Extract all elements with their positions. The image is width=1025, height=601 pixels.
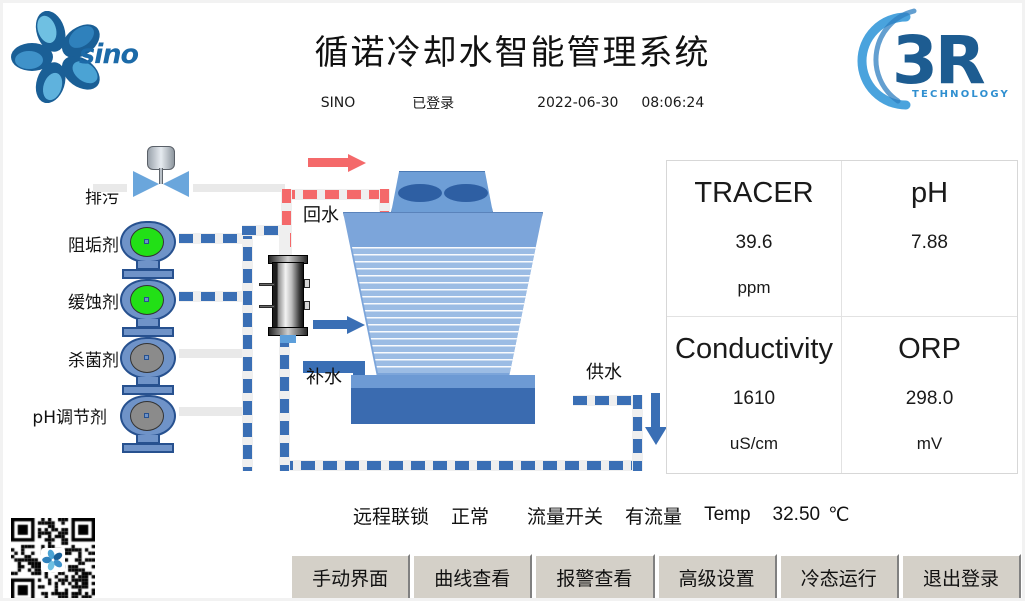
readout-ph: pH 7.88 — [842, 161, 1017, 317]
curve-view-button[interactable]: 曲线查看 — [412, 554, 532, 601]
valve-actuator — [147, 146, 175, 170]
label-biocide: 杀菌剂 — [11, 346, 119, 371]
readout-value: 1610 — [733, 388, 775, 410]
header-bar: sino 循诺冷却水智能管理系统 SINO 已登录 2022-06-30 08:… — [3, 3, 1022, 123]
filter-nozzle-left-lower — [259, 305, 275, 308]
pump-inhibitor[interactable] — [118, 279, 180, 337]
label-antiscalant: 阻垢剂 — [11, 231, 119, 256]
label-return-water: 回水 — [303, 201, 339, 227]
threer-logo-subtitle: TECHNOLOGY — [912, 89, 1010, 100]
readout-conductivity: Conductivity 1610 uS/cm — [667, 317, 842, 473]
pump-base — [122, 269, 174, 279]
filter-knob-upper — [304, 279, 310, 288]
readout-name: pH — [911, 177, 948, 210]
pipe-bottom-loop — [279, 461, 643, 470]
pump-antiscalant[interactable] — [118, 221, 180, 279]
current-date: 2022-06-30 — [537, 95, 618, 111]
readout-unit: ppm — [737, 278, 770, 298]
readout-value: 298.0 — [906, 388, 954, 410]
user-name: SINO — [321, 95, 356, 111]
pipe-left-riser — [243, 225, 252, 471]
pump-center-dot — [144, 355, 149, 360]
arrow-makeup-shaft — [313, 320, 347, 329]
readout-tracer: TRACER 39.6 ppm — [667, 161, 842, 317]
valve-body-left — [133, 171, 159, 197]
pipe-blowdown-right — [193, 184, 285, 192]
cold-run-button[interactable]: 冷态运行 — [779, 554, 899, 601]
label-supply-water: 供水 — [586, 358, 622, 384]
measurement-panel: TRACER 39.6 ppm pH 7.88 Conductivity 161… — [666, 160, 1018, 474]
arrow-supply-head — [645, 427, 667, 445]
tower-louvers — [344, 247, 544, 373]
filter-knob-lower — [304, 301, 310, 310]
label-makeup-water: 补水 — [306, 363, 342, 389]
tower-basin — [351, 388, 535, 424]
svg-text:3R: 3R — [892, 22, 985, 99]
filter-outlet — [280, 335, 296, 343]
threer-logo: 3R TECHNOLOGY — [854, 5, 1016, 117]
pump-center-dot — [144, 413, 149, 418]
dosing-line-antiscalant — [179, 234, 243, 243]
readout-orp: ORP 298.0 mV — [842, 317, 1017, 473]
arrow-return-head — [348, 154, 366, 172]
pump-base — [122, 443, 174, 453]
manual-interface-button[interactable]: 手动界面 — [290, 554, 410, 601]
readout-name: TRACER — [694, 177, 813, 210]
fan-blade-right — [444, 184, 488, 202]
fan-blade-left — [398, 184, 442, 202]
qr-code[interactable] — [11, 518, 95, 601]
qr-center-logo — [41, 548, 65, 572]
status-temp-value: 32.50 — [773, 504, 821, 526]
dosing-line-inhibitor — [179, 292, 243, 301]
readout-unit: mV — [917, 434, 943, 454]
filter-vessel-icon[interactable] — [266, 253, 310, 341]
filter-shell — [272, 262, 304, 330]
pump-base — [122, 385, 174, 395]
blowdown-valve-icon[interactable] — [123, 146, 199, 198]
dosing-line-biocide — [179, 349, 243, 358]
application-window: sino 循诺冷却水智能管理系统 SINO 已登录 2022-06-30 08:… — [0, 0, 1025, 601]
status-remote-interlock-value: 正常 — [451, 502, 489, 529]
valve-body-right — [163, 171, 189, 197]
pump-biocide[interactable] — [118, 337, 180, 395]
login-status: 已登录 — [412, 93, 454, 113]
readout-value: 39.6 — [736, 232, 773, 254]
status-remote-interlock-label: 远程联锁 — [353, 502, 429, 529]
readout-name: Conductivity — [675, 333, 833, 366]
advanced-settings-button[interactable]: 高级设置 — [657, 554, 777, 601]
current-time: 08:06:24 — [641, 95, 704, 111]
logout-button[interactable]: 退出登录 — [901, 554, 1021, 601]
status-bar: 远程联锁 正常 流量开关 有流量 Temp 32.50 ℃ — [353, 499, 1018, 531]
arrow-supply-shaft — [651, 393, 660, 427]
tower-body — [343, 212, 543, 377]
status-temp-unit: ℃ — [828, 504, 849, 527]
arrow-return-shaft — [308, 158, 348, 167]
pump-center-dot — [144, 297, 149, 302]
pump-base — [122, 327, 174, 337]
readout-name: ORP — [898, 333, 961, 366]
cooling-tower — [343, 171, 543, 421]
alarm-view-button[interactable]: 报警查看 — [534, 554, 654, 601]
pump-center-dot — [144, 239, 149, 244]
pipe-inner-riser — [280, 333, 289, 471]
pipe-supply-vertical — [633, 395, 642, 471]
pump-ph-adjuster[interactable] — [118, 395, 180, 453]
filter-nozzle-left-upper — [259, 283, 275, 286]
label-inhibitor: 缓蚀剂 — [11, 288, 119, 313]
readout-value: 7.88 — [911, 232, 948, 254]
status-temp-label: Temp — [704, 504, 750, 526]
pipe-blowdown-left — [93, 184, 127, 192]
readout-unit: uS/cm — [730, 434, 778, 454]
label-ph-adjuster: pH调节剂 — [0, 403, 107, 428]
tower-fan-housing — [391, 171, 493, 213]
status-flow-switch-value: 有流量 — [625, 502, 682, 529]
button-bar: 手动界面 曲线查看 报警查看 高级设置 冷态运行 退出登录 — [290, 554, 1021, 601]
dosing-line-ph — [179, 407, 243, 416]
status-flow-switch-label: 流量开关 — [527, 502, 603, 529]
